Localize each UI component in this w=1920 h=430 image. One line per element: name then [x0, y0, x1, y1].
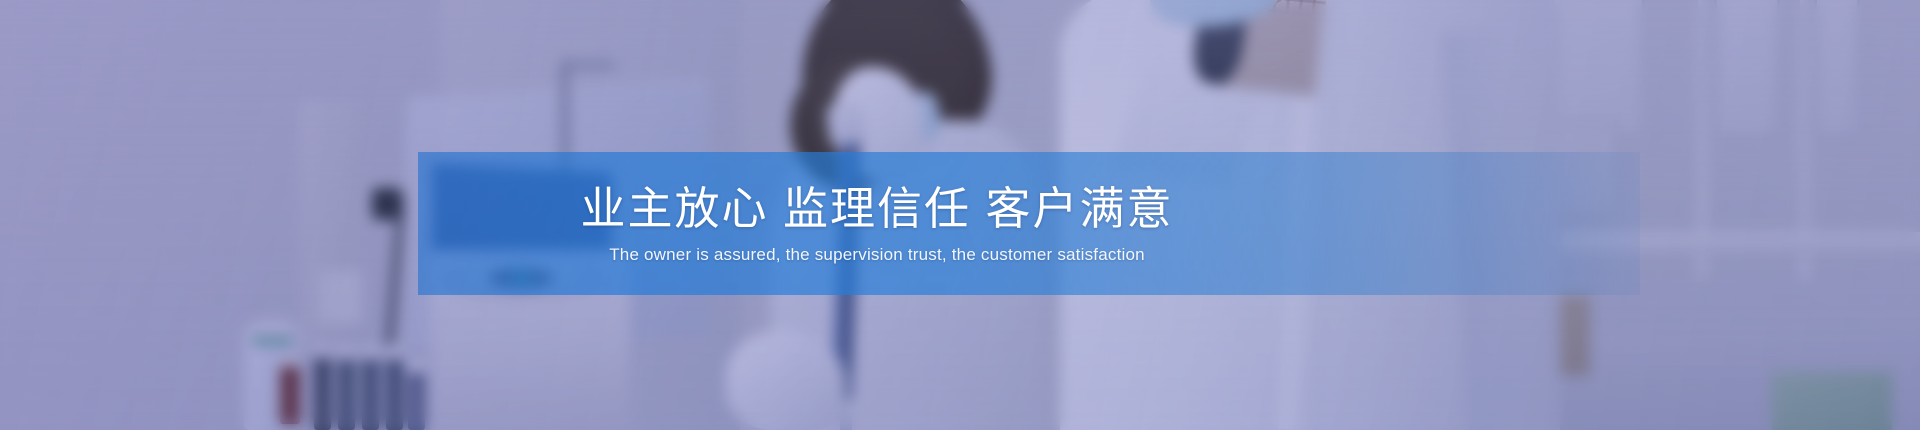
caption-band: 业主放心 监理信任 客户满意 The owner is assured, the…: [418, 152, 1640, 295]
hero-banner: 业主放心 监理信任 客户满意 The owner is assured, the…: [0, 0, 1920, 430]
caption-band-content: 业主放心 监理信任 客户满意 The owner is assured, the…: [418, 152, 1640, 295]
banner-headline: 业主放心 监理信任 客户满意: [580, 182, 1173, 235]
banner-subheadline: The owner is assured, the supervision tr…: [609, 245, 1145, 265]
